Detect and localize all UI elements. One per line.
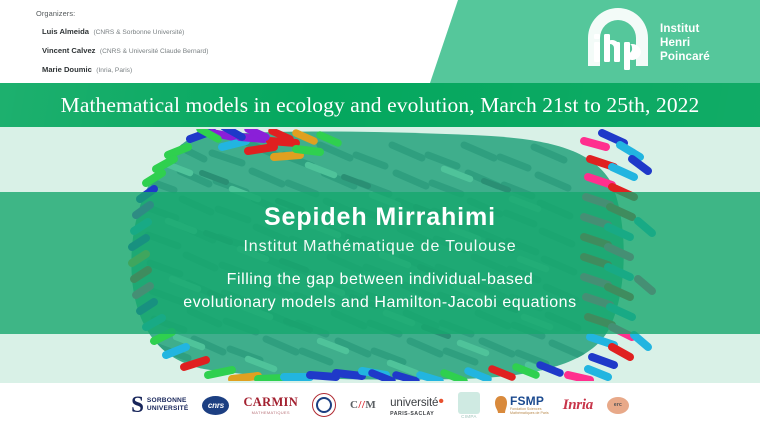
ihp-word-line1: Institut [660, 22, 710, 36]
carmin-label: CARMIN [243, 395, 298, 410]
sponsor-logo-bar: S SORBONNE UNIVERSITÉ cnrs CARMIN MATHEM… [0, 383, 760, 427]
ihp-wordmark: Institut Henri Poincaré [660, 22, 710, 64]
sponsor-logo-ihes[interactable] [312, 391, 336, 419]
sponsor-logo-carmin[interactable]: CARMIN MATHEMATIQUES [243, 391, 298, 419]
carmin-sublabel: MATHEMATIQUES [243, 410, 298, 415]
cirm-label: C//M [350, 399, 376, 411]
conference-title: Mathematical models in ecology and evolu… [0, 83, 760, 127]
erc-blob-icon: erc [607, 397, 629, 414]
ihp-word-line3: Poincaré [660, 50, 710, 64]
sorbonne-line1: SORBONNE [147, 397, 189, 405]
inria-label: Inria [563, 397, 593, 414]
ihp-word-line2: Henri [660, 36, 710, 50]
conference-slide: Organizers: Luis Almeida (CNRS & Sorbonn… [0, 0, 760, 427]
cimpa-tree-icon [458, 392, 480, 414]
ihes-ring-icon [312, 393, 336, 417]
sponsor-logo-erc[interactable]: erc [607, 391, 629, 419]
talk-info-panel: Sepideh Mirrahimi Institut Mathématique … [0, 192, 760, 334]
organizer-name: Vincent Calvez [42, 46, 95, 55]
sponsor-logo-inria[interactable]: Inria [563, 391, 593, 419]
sorbonne-s-mark: S [131, 395, 144, 416]
organizers-block: Organizers: Luis Almeida (CNRS & Sorbonn… [36, 9, 366, 83]
organizers-label: Organizers: [36, 9, 366, 18]
organizer-row: Marie Doumic (Inria, Paris) [42, 60, 366, 77]
cnrs-disc-icon: cnrs [202, 396, 229, 415]
ihp-logo: Institut Henri Poincaré [578, 8, 748, 74]
sponsor-logo-cirm[interactable]: C//M [350, 391, 376, 419]
sorbonne-line2: UNIVERSITÉ [147, 405, 189, 413]
organizer-affiliation: (Inria, Paris) [96, 67, 132, 74]
fsmp-head-icon [494, 395, 508, 415]
cimpa-label: CIMPA [458, 414, 480, 419]
fsmp-sublabel2: Mathématiques de Paris [510, 411, 549, 415]
talk-title: Filling the gap between individual-based… [183, 269, 576, 314]
slide-stage: Sepideh Mirrahimi Institut Mathématique … [0, 127, 760, 383]
ups-line2: PARIS-SACLAY [390, 411, 444, 417]
ups-dot-icon: • [438, 393, 444, 410]
ups-line1-wrap: université• [390, 393, 444, 411]
fsmp-label: FSMP [510, 395, 549, 407]
ihes-inner-ring-icon [316, 397, 332, 413]
sponsor-logo-cimpa[interactable]: CIMPA [458, 391, 480, 419]
ups-line1: université [390, 397, 438, 409]
sponsor-logo-sorbonne-universite[interactable]: S SORBONNE UNIVERSITÉ [131, 391, 188, 419]
organizer-affiliation: (CNRS & Université Claude Bernard) [100, 48, 208, 55]
sponsor-logo-universite-paris-saclay[interactable]: université• PARIS-SACLAY [390, 391, 444, 419]
talk-title-line2: evolutionary models and Hamilton-Jacobi … [183, 292, 576, 315]
conference-title-banner: Mathematical models in ecology and evolu… [0, 83, 760, 127]
sponsor-logo-cnrs[interactable]: cnrs [202, 391, 229, 419]
organizer-name: Marie Doumic [42, 65, 92, 74]
sponsor-logo-fsmp[interactable]: FSMP Fondation Sciences Mathématiques de… [494, 391, 549, 419]
organizer-row: Luis Almeida (CNRS & Sorbonne Université… [42, 22, 366, 39]
organizer-affiliation: (CNRS & Sorbonne Université) [93, 29, 184, 36]
ihp-arch-icon [578, 8, 658, 70]
talk-title-line1: Filling the gap between individual-based [183, 269, 576, 292]
organizer-row: Vincent Calvez (CNRS & Université Claude… [42, 41, 366, 58]
organizer-name: Luis Almeida [42, 27, 89, 36]
erc-label: erc [614, 402, 622, 408]
slide-header: Organizers: Luis Almeida (CNRS & Sorbonn… [0, 0, 760, 83]
speaker-name: Sepideh Mirrahimi [264, 204, 496, 231]
speaker-affiliation: Institut Mathématique de Toulouse [243, 238, 516, 256]
